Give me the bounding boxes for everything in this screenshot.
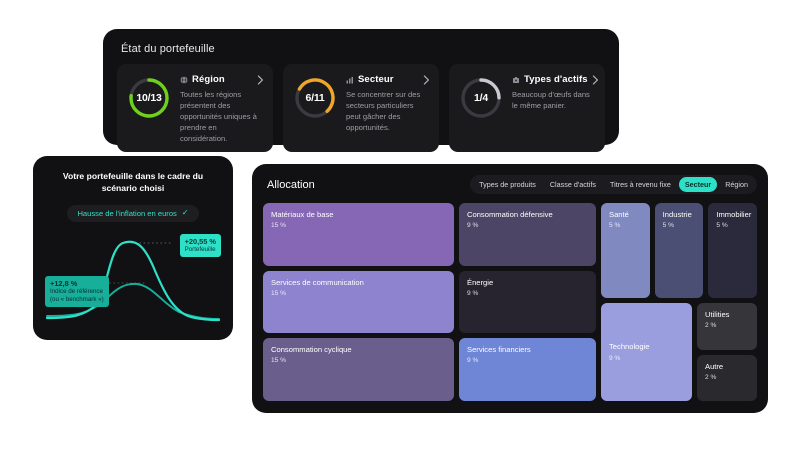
donut-chart-types-actifs: 1/4 bbox=[458, 75, 504, 121]
status-card-title-secteur: Secteur bbox=[358, 74, 394, 85]
scenario-selector-pill[interactable]: Hausse de l'inflation en euros ✓ bbox=[67, 205, 198, 222]
filter-types-de-produits[interactable]: Types de produits bbox=[473, 177, 542, 192]
treemap-tile-services-financiers[interactable]: Services financiers 9 % bbox=[459, 338, 596, 401]
treemap-subcolumn-c: Utilities 2 % Autre 2 % bbox=[697, 303, 757, 401]
tile-value: 5 % bbox=[716, 222, 749, 229]
tile-value: 9 % bbox=[467, 357, 588, 364]
treemap-tile-consommation-defensive[interactable]: Consommation défensive 9 % bbox=[459, 203, 596, 266]
chevron-right-icon[interactable] bbox=[592, 75, 599, 85]
treemap-column-b: Consommation défensive 9 % Énergie 9 % S… bbox=[459, 203, 596, 401]
treemap-tile-services-de-communication[interactable]: Services de communication 15 % bbox=[263, 271, 454, 334]
status-card-desc-types-actifs: Beaucoup d'œufs dans le même panier. bbox=[512, 89, 596, 111]
tile-label: Services financiers bbox=[467, 345, 588, 354]
tile-value: 5 % bbox=[609, 222, 642, 229]
status-card-secteur[interactable]: 6/11 Secteur Se concentrer sur des secte… bbox=[283, 64, 439, 152]
tile-value: 9 % bbox=[609, 355, 684, 362]
treemap-column-c: Santé 5 % Industrie 5 % Immobilier 5 % T… bbox=[601, 203, 757, 401]
tile-value: 9 % bbox=[467, 290, 588, 297]
status-card-desc-region: Toutes les régions présentent des opport… bbox=[180, 89, 264, 144]
allocation-treemap: Matériaux de base 15 % Services de commu… bbox=[263, 203, 757, 401]
treemap-row-c-top: Santé 5 % Industrie 5 % Immobilier 5 % bbox=[601, 203, 757, 298]
donut-chart-secteur: 6/11 bbox=[292, 75, 338, 121]
donut-chart-region: 10/13 bbox=[126, 75, 172, 121]
allocation-filter-group: Types de produits Classe d'actifs Titres… bbox=[470, 175, 757, 194]
status-card-title-region: Région bbox=[192, 74, 225, 85]
tile-value: 9 % bbox=[467, 222, 588, 229]
tile-label: Consommation défensive bbox=[467, 210, 588, 219]
tile-label: Technologie bbox=[609, 342, 684, 351]
tile-value: 15 % bbox=[271, 357, 446, 364]
tile-label: Services de communication bbox=[271, 278, 446, 287]
donut-ratio-types-actifs: 1/4 bbox=[458, 75, 504, 121]
status-card-desc-secteur: Se concentrer sur des secteurs particuli… bbox=[346, 89, 430, 133]
tile-value: 2 % bbox=[705, 322, 749, 329]
chevron-right-icon[interactable] bbox=[257, 75, 264, 85]
scenario-pill-label: Hausse de l'inflation en euros bbox=[77, 209, 176, 218]
treemap-tile-industrie[interactable]: Industrie 5 % bbox=[655, 203, 704, 298]
portfolio-value: +20,55 % bbox=[185, 237, 216, 246]
filter-region[interactable]: Région bbox=[719, 177, 754, 192]
chevron-right-icon[interactable] bbox=[423, 75, 430, 85]
app-root: État du portefeuille 10/13 Régi bbox=[0, 0, 800, 450]
status-card-title-types-actifs: Types d'actifs bbox=[524, 74, 588, 85]
benchmark-sublabel: (ou « benchmark ») bbox=[50, 296, 104, 304]
allocation-title: Allocation bbox=[267, 179, 315, 191]
treemap-tile-consommation-cyclique[interactable]: Consommation cyclique 15 % bbox=[263, 338, 454, 401]
briefcase-icon bbox=[512, 76, 520, 84]
treemap-tile-materiaux-de-base[interactable]: Matériaux de base 15 % bbox=[263, 203, 454, 266]
allocation-panel: Allocation Types de produits Classe d'ac… bbox=[252, 164, 768, 413]
portfolio-label: Portefeuille bbox=[185, 246, 216, 254]
tile-label: Matériaux de base bbox=[271, 210, 446, 219]
filter-classe-dactifs[interactable]: Classe d'actifs bbox=[544, 177, 602, 192]
treemap-tile-energie[interactable]: Énergie 9 % bbox=[459, 271, 596, 334]
benchmark-label: Indice de référence bbox=[50, 288, 104, 296]
treemap-column-a: Matériaux de base 15 % Services de commu… bbox=[263, 203, 454, 401]
portfolio-status-panel: État du portefeuille 10/13 Régi bbox=[103, 29, 619, 145]
filter-secteur[interactable]: Secteur bbox=[679, 177, 717, 192]
treemap-tile-autre[interactable]: Autre 2 % bbox=[697, 355, 757, 402]
status-card-region[interactable]: 10/13 Région Toutes les régions présente… bbox=[117, 64, 273, 152]
scenario-panel: Votre portefeuille dans le cadre du scén… bbox=[33, 156, 233, 340]
globe-icon bbox=[180, 76, 188, 84]
status-card-types-actifs[interactable]: 1/4 Types d'actifs Beaucoup d'œufs dans … bbox=[449, 64, 605, 152]
status-card-list: 10/13 Région Toutes les régions présente… bbox=[117, 64, 605, 152]
scenario-title: Votre portefeuille dans le cadre du scén… bbox=[45, 170, 221, 195]
treemap-tile-immobilier[interactable]: Immobilier 5 % bbox=[708, 203, 757, 298]
tile-label: Énergie bbox=[467, 278, 588, 287]
check-icon: ✓ bbox=[182, 209, 189, 217]
tile-label: Consommation cyclique bbox=[271, 345, 446, 354]
donut-ratio-region: 10/13 bbox=[126, 75, 172, 121]
tile-value: 15 % bbox=[271, 290, 446, 297]
portfolio-value-tag: +20,55 % Portefeuille bbox=[180, 234, 221, 257]
treemap-tile-sante[interactable]: Santé 5 % bbox=[601, 203, 650, 298]
benchmark-value: +12,8 % bbox=[50, 279, 104, 288]
filter-titres-revenu-fixe[interactable]: Titres à revenu fixe bbox=[604, 177, 677, 192]
tile-label: Immobilier bbox=[716, 210, 749, 219]
tile-value: 2 % bbox=[705, 374, 749, 381]
tile-label: Santé bbox=[609, 210, 642, 219]
portfolio-status-title: État du portefeuille bbox=[121, 43, 605, 55]
tile-label: Industrie bbox=[663, 210, 696, 219]
tile-value: 15 % bbox=[271, 222, 446, 229]
benchmark-value-tag: +12,8 % Indice de référence (ou « benchm… bbox=[45, 276, 109, 307]
treemap-row-c-bottom: Technologie 9 % Utilities 2 % Autre 2 % bbox=[601, 303, 757, 401]
tile-value: 5 % bbox=[663, 222, 696, 229]
bar-chart-icon bbox=[346, 76, 354, 84]
treemap-tile-technologie[interactable]: Technologie 9 % bbox=[601, 303, 692, 401]
treemap-tile-utilities[interactable]: Utilities 2 % bbox=[697, 303, 757, 350]
tile-label: Autre bbox=[705, 362, 749, 371]
donut-ratio-secteur: 6/11 bbox=[292, 75, 338, 121]
scenario-distribution-chart: +20,55 % Portefeuille +12,8 % Indice de … bbox=[45, 228, 221, 324]
tile-label: Utilities bbox=[705, 310, 749, 319]
